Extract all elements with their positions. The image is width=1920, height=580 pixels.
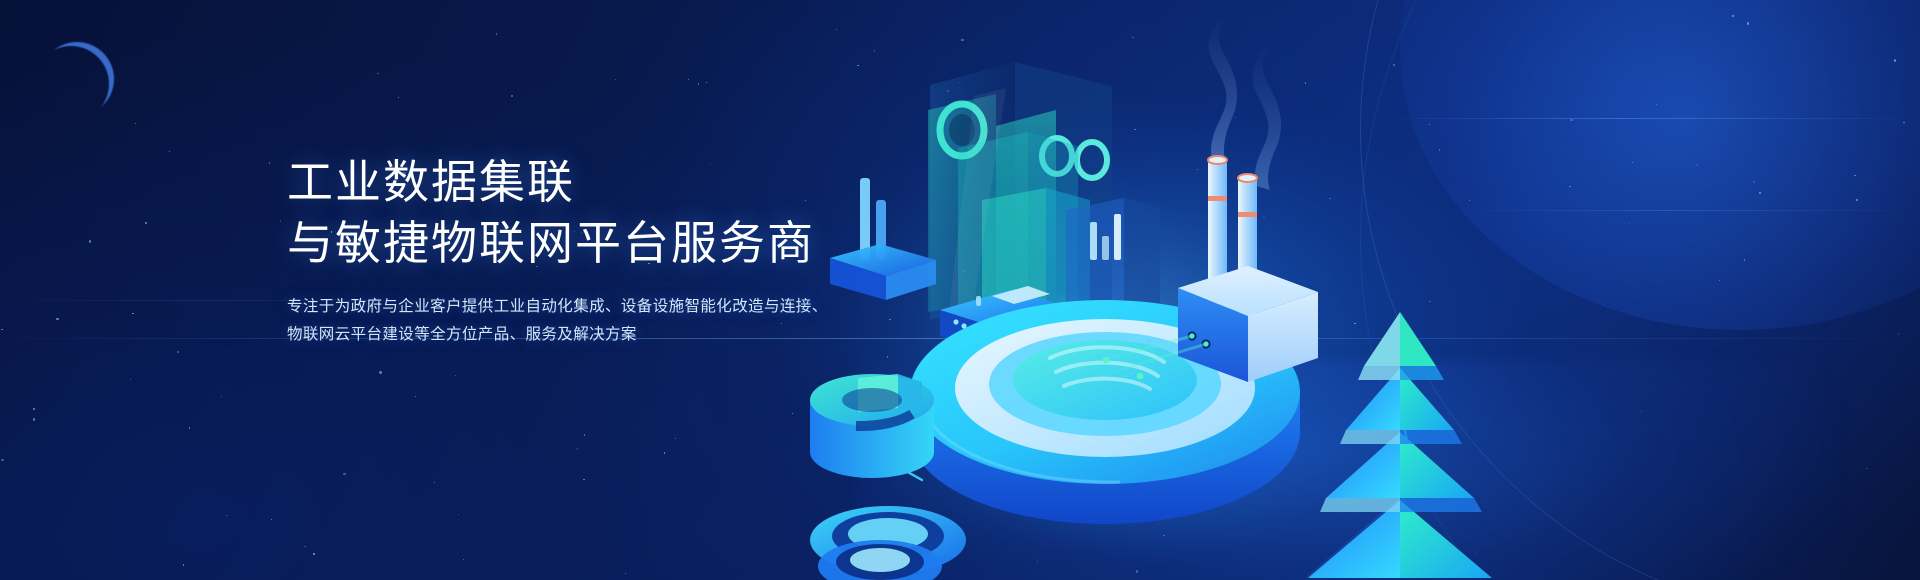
star (183, 564, 184, 565)
star (304, 546, 305, 547)
star (458, 514, 459, 515)
star (398, 97, 399, 98)
star (377, 73, 378, 74)
star (135, 123, 136, 124)
star (1, 329, 2, 330)
star (664, 452, 665, 453)
star (675, 438, 676, 439)
star (189, 427, 190, 428)
star (313, 553, 314, 554)
star (615, 79, 616, 80)
star (343, 473, 345, 475)
star (169, 151, 170, 152)
crescent-moon-icon (40, 42, 114, 116)
star (33, 408, 34, 409)
star (130, 378, 131, 379)
star (688, 79, 689, 80)
star (379, 371, 381, 373)
star (583, 479, 584, 480)
star (226, 351, 227, 352)
star (698, 83, 699, 84)
star (455, 375, 456, 376)
star (415, 396, 416, 397)
star (625, 573, 626, 574)
star (434, 482, 435, 483)
star (226, 515, 227, 516)
star (145, 222, 146, 223)
star (269, 162, 270, 163)
cylinder-gauge (810, 374, 934, 478)
star (576, 448, 578, 450)
star (271, 519, 272, 520)
hero-illustration (760, 0, 1920, 580)
star (496, 33, 497, 34)
star (1, 459, 3, 461)
star (33, 418, 35, 420)
star (177, 351, 179, 353)
star (706, 82, 707, 83)
star (89, 240, 91, 242)
star (56, 318, 58, 320)
star (584, 434, 585, 435)
star (463, 559, 464, 560)
hero-banner: 工业数据集联 与敏捷物联网平台服务商 专注于为政府与企业客户提供工业自动化集成、… (0, 0, 1920, 580)
star (132, 313, 133, 314)
star (280, 220, 281, 221)
star (221, 396, 222, 397)
star (511, 95, 512, 96)
